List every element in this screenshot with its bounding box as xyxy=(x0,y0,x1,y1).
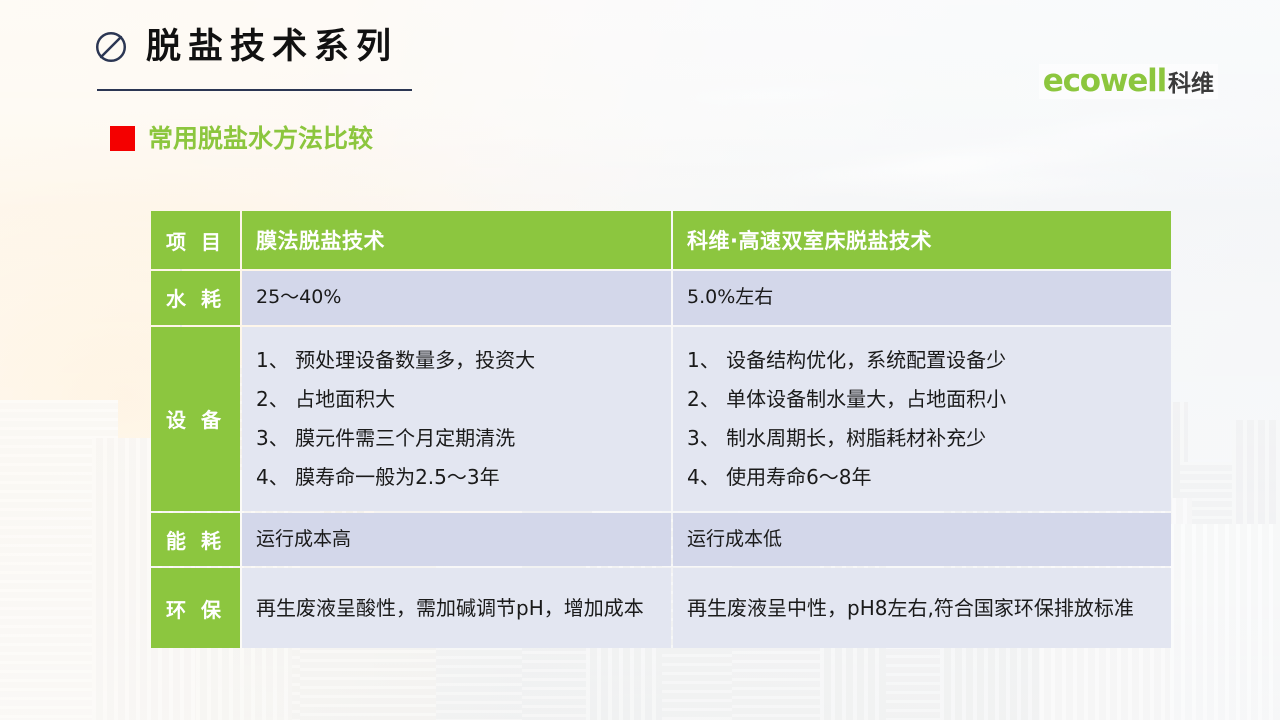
slide-content: 脱盐技术系列 常用脱盐水方法比较 ecowell 科维 项 目 膜法脱盐技术 科… xyxy=(0,0,1280,720)
list-item: 4、 使用寿命6～8年 xyxy=(687,458,1159,497)
header-cell-col-a: 膜法脱盐技术 xyxy=(242,211,671,269)
row-label-water: 水 耗 xyxy=(151,271,240,325)
table-row-water: 水 耗 25～40% 5.0%左右 xyxy=(151,271,1171,325)
row-label-energy: 能 耗 xyxy=(151,513,240,567)
row-water-col-a: 25～40% xyxy=(242,271,671,325)
list-item: 2、 占地面积大 xyxy=(256,380,659,419)
list-item: 3、 制水周期长，树脂耗材补充少 xyxy=(687,419,1159,458)
brand-logo: ecowell 科维 xyxy=(1039,64,1218,99)
brand-logo-chinese: 科维 xyxy=(1168,73,1214,96)
equipment-list-b: 1、 设备结构优化，系统配置设备少 2、 单体设备制水量大，占地面积小 3、 制… xyxy=(687,341,1159,497)
row-equipment-col-b: 1、 设备结构优化，系统配置设备少 2、 单体设备制水量大，占地面积小 3、 制… xyxy=(673,327,1171,511)
title-underline xyxy=(97,89,412,91)
row-label-equipment: 设 备 xyxy=(151,327,240,511)
header-cell-col-b: 科维·高速双室床脱盐技术 xyxy=(673,211,1171,269)
row-environment-col-b: 再生废液呈中性，pH8左右,符合国家环保排放标准 xyxy=(673,568,1171,648)
list-item: 1、 设备结构优化，系统配置设备少 xyxy=(687,341,1159,380)
equipment-list-a: 1、 预处理设备数量多，投资大 2、 占地面积大 3、 膜元件需三个月定期清洗 … xyxy=(256,341,659,497)
list-item: 3、 膜元件需三个月定期清洗 xyxy=(256,419,659,458)
row-energy-col-b: 运行成本低 xyxy=(673,513,1171,567)
page-title: 脱盐技术系列 xyxy=(92,28,398,66)
list-item: 4、 膜寿命一般为2.5～3年 xyxy=(256,458,659,497)
row-environment-col-a: 再生废液呈酸性，需加碱调节pH，增加成本 xyxy=(242,568,671,648)
brand-logo-wordmark: ecowell xyxy=(1043,66,1166,97)
row-label-environment: 环 保 xyxy=(151,568,240,648)
slide-root: 脱盐技术系列 常用脱盐水方法比较 ecowell 科维 项 目 膜法脱盐技术 科… xyxy=(0,0,1280,720)
circle-slash-icon xyxy=(92,28,130,66)
page-title-text: 脱盐技术系列 xyxy=(146,30,398,65)
section-subtitle-text: 常用脱盐水方法比较 xyxy=(148,126,373,151)
row-energy-col-a: 运行成本高 xyxy=(242,513,671,567)
header-cell-label: 项 目 xyxy=(151,211,240,269)
table-header-row: 项 目 膜法脱盐技术 科维·高速双室床脱盐技术 xyxy=(151,211,1171,269)
table-row-equipment: 设 备 1、 预处理设备数量多，投资大 2、 占地面积大 3、 膜元件需三个月定… xyxy=(151,327,1171,511)
list-item: 2、 单体设备制水量大，占地面积小 xyxy=(687,380,1159,419)
section-subtitle: 常用脱盐水方法比较 xyxy=(110,126,373,151)
comparison-table: 项 目 膜法脱盐技术 科维·高速双室床脱盐技术 水 耗 25～40% 5.0%左… xyxy=(149,209,1173,650)
list-item: 1、 预处理设备数量多，投资大 xyxy=(256,341,659,380)
row-equipment-col-a: 1、 预处理设备数量多，投资大 2、 占地面积大 3、 膜元件需三个月定期清洗 … xyxy=(242,327,671,511)
row-water-col-b: 5.0%左右 xyxy=(673,271,1171,325)
table-row-energy: 能 耗 运行成本高 运行成本低 xyxy=(151,513,1171,567)
table-row-environment: 环 保 再生废液呈酸性，需加碱调节pH，增加成本 再生废液呈中性，pH8左右,符… xyxy=(151,568,1171,648)
red-square-bullet-icon xyxy=(110,126,135,151)
